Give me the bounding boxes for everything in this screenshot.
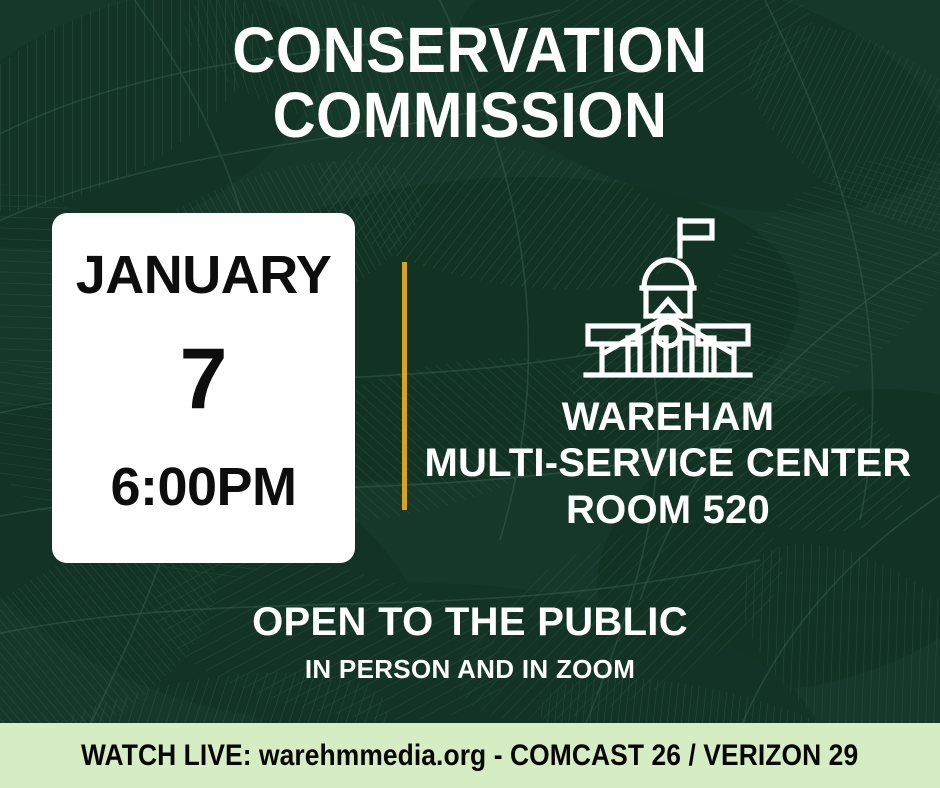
date-month: JANUARY xyxy=(76,248,332,302)
headline-line-1: CONSERVATION xyxy=(232,14,707,86)
venue-address: WAREHAM MULTI-SERVICE CENTER ROOM 520 xyxy=(418,394,918,533)
town-hall-icon xyxy=(580,212,756,388)
public-notice: OPEN TO THE PUBLIC IN PERSON AND IN ZOOM xyxy=(0,600,940,684)
venue-block: WAREHAM MULTI-SERVICE CENTER ROOM 520 xyxy=(418,212,918,533)
watch-live-text: WATCH LIVE: warehmmedia.org - COMCAST 26… xyxy=(81,739,858,773)
meeting-notice-poster: CONSERVATION COMMISSION JANUARY 7 6:00PM xyxy=(0,0,940,788)
date-card: JANUARY 7 6:00PM xyxy=(52,213,355,563)
venue-line-2: MULTI-SERVICE CENTER xyxy=(418,440,918,486)
headline-line-2: COMMISSION xyxy=(33,83,907,148)
date-time: 6:00PM xyxy=(110,460,296,514)
page-title: CONSERVATION COMMISSION xyxy=(33,18,907,149)
gold-vertical-divider xyxy=(402,262,407,510)
date-day: 7 xyxy=(180,336,228,422)
venue-line-1: WAREHAM xyxy=(418,394,918,440)
public-notice-secondary: IN PERSON AND IN ZOOM xyxy=(0,655,940,684)
watch-live-banner: WATCH LIVE: warehmmedia.org - COMCAST 26… xyxy=(0,723,940,788)
venue-line-3: ROOM 520 xyxy=(418,487,918,533)
public-notice-primary: OPEN TO THE PUBLIC xyxy=(0,600,940,644)
